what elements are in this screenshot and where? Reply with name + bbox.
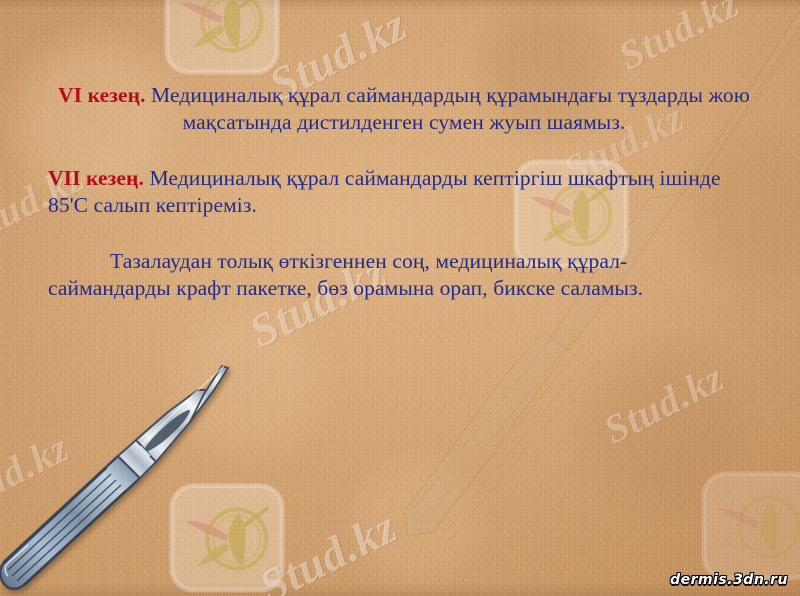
site-badge: dermis.3dn.ru: [670, 572, 788, 588]
paragraph-7-body: Медициналық құрал саймандарды кептіргіш …: [48, 166, 721, 217]
paragraph-6: VI кезең. Медициналық құрал саймандардың…: [48, 82, 760, 136]
paragraph-closing-body: Тазалаудан толық өткізгеннен соң, медици…: [48, 249, 643, 300]
hummingbird-logo-icon: [168, 482, 286, 594]
paragraph-7: VII кезең. Медициналық құрал саймандарды…: [48, 165, 748, 219]
paragraph-closing: Тазалаудан толық өткізгеннен соң, медици…: [48, 248, 748, 302]
paragraph-6-body: Медициналық құрал саймандардың құрамында…: [146, 83, 750, 134]
hummingbird-logo-icon: [163, 0, 281, 76]
scalpel-photo: [0, 350, 240, 596]
watermark-studkz: Stud.kz: [596, 353, 732, 453]
stage-label-vii: VII кезең.: [48, 166, 144, 190]
watermark-studkz: Stud.kz: [251, 500, 405, 596]
watermark-studkz: Stud.kz: [0, 423, 77, 523]
presentation-slide: Stud.kz Stud.kz Stud.kz Stud.kz Stud.kz …: [0, 0, 800, 596]
hummingbird-logo-icon: [700, 470, 800, 582]
stage-label-vi: VI кезең.: [58, 83, 146, 107]
watermark-studkz: Stud.kz: [611, 0, 747, 80]
